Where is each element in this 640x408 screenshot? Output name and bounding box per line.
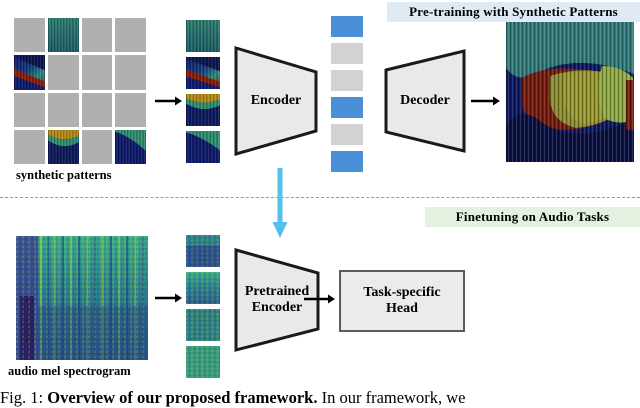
token-mask bbox=[331, 70, 363, 91]
patch-wave-up bbox=[186, 94, 220, 126]
patch-mel-2 bbox=[186, 272, 220, 304]
audio-patch-column bbox=[186, 235, 220, 378]
token-visible bbox=[331, 16, 363, 37]
arrow-decoder-to-output bbox=[471, 95, 501, 107]
patch-wave-down bbox=[186, 131, 220, 163]
figure-caption: Fig. 1: Overview of our proposed framewo… bbox=[0, 389, 640, 407]
patch-fan bbox=[186, 57, 220, 89]
grid-cell-visible-stripes bbox=[48, 18, 79, 52]
transfer-arrow bbox=[270, 168, 290, 240]
grid-cell-masked bbox=[48, 93, 79, 127]
token-mask bbox=[331, 43, 363, 64]
grid-cell-masked bbox=[115, 55, 146, 89]
caption-title: Overview of our proposed framework. bbox=[47, 388, 317, 407]
token-visible bbox=[331, 97, 363, 118]
arrow-encoder-to-head bbox=[304, 293, 336, 305]
patch-mel-4 bbox=[186, 346, 220, 378]
section-badge-finetuning: Finetuning on Audio Tasks bbox=[425, 207, 640, 227]
grid-cell-visible-fan bbox=[14, 55, 45, 89]
synthetic-patterns-label: synthetic patterns bbox=[16, 168, 111, 183]
grid-cell-visible-wave-up bbox=[48, 130, 79, 164]
grid-cell-masked bbox=[82, 55, 113, 89]
decoder-block: Decoder bbox=[383, 48, 467, 154]
grid-cell-visible-wave-down bbox=[115, 130, 146, 164]
grid-cell-masked bbox=[14, 18, 45, 52]
caption-prefix: Fig. 1: bbox=[0, 388, 43, 407]
grid-cell-masked bbox=[82, 18, 113, 52]
patch-mel-1 bbox=[186, 235, 220, 267]
grid-cell-masked bbox=[14, 93, 45, 127]
grid-cell-masked bbox=[115, 93, 146, 127]
task-head-label-line1: Task-specific bbox=[363, 285, 440, 301]
synthetic-pattern-grid bbox=[14, 18, 146, 164]
figure-overview: Pre-training with Synthetic Patterns Fin… bbox=[0, 0, 640, 408]
arrow-spectrogram-to-patches bbox=[155, 292, 183, 304]
audio-mel-spectrogram-image bbox=[16, 236, 148, 360]
latent-token-column bbox=[331, 16, 363, 172]
section-divider bbox=[0, 197, 640, 198]
token-visible bbox=[331, 151, 363, 172]
patch-stripes bbox=[186, 20, 220, 52]
grid-cell-masked bbox=[82, 130, 113, 164]
task-specific-head-block: Task-specific Head bbox=[339, 270, 465, 332]
task-head-label-line2: Head bbox=[386, 301, 418, 317]
grid-cell-masked bbox=[14, 130, 45, 164]
audio-spectrogram-label: audio mel spectrogram bbox=[8, 364, 131, 379]
patch-mel-3 bbox=[186, 309, 220, 341]
reconstructed-pattern-image bbox=[506, 22, 634, 162]
section-badge-pretraining: Pre-training with Synthetic Patterns bbox=[387, 2, 640, 22]
grid-cell-masked bbox=[82, 93, 113, 127]
visible-patch-column-synthetic bbox=[186, 20, 220, 163]
token-mask bbox=[331, 124, 363, 145]
grid-cell-masked bbox=[48, 55, 79, 89]
caption-body: In our framework, we bbox=[322, 388, 466, 407]
arrow-grid-to-patches bbox=[155, 95, 183, 107]
grid-cell-masked bbox=[115, 18, 146, 52]
encoder-block: Encoder bbox=[233, 45, 319, 157]
